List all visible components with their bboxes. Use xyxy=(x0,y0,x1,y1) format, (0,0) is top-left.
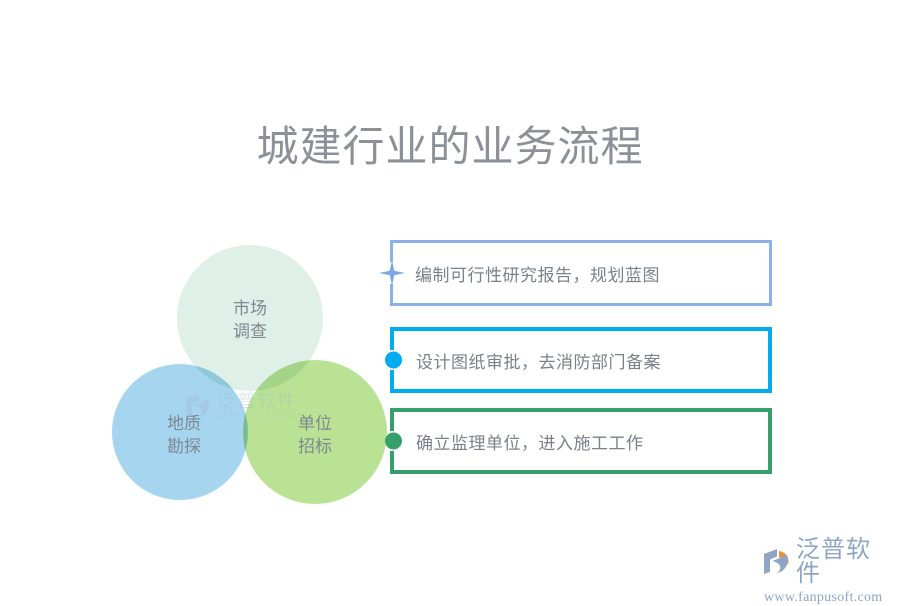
cross-marker-icon xyxy=(379,260,405,286)
dot-marker-icon-2 xyxy=(385,352,402,369)
logo-name: 泛普软件 xyxy=(796,538,892,586)
dot-marker-icon-3 xyxy=(385,433,402,450)
step-box-1[interactable]: 编制可行性研究报告，规划蓝图 xyxy=(390,240,772,306)
step-3-text: 确立监理单位，进入施工工作 xyxy=(394,429,644,454)
step-box-2[interactable]: 设计图纸审批，去消防部门备案 xyxy=(390,327,772,393)
page-title: 城建行业的业务流程 xyxy=(0,122,900,172)
logo-row: 泛普软件 xyxy=(762,538,892,586)
venn-label-unit-bidding: 单位 招标 xyxy=(280,412,350,458)
logo-url: www.fanpusoft.com xyxy=(764,590,883,606)
slide-canvas: 城建行业的业务流程 市场 调查 地质 勘探 单位 招标 泛普软件 FANPU S… xyxy=(0,0,900,600)
fanpu-logo-mark-icon xyxy=(762,547,792,577)
venn-label-market-research: 市场 调查 xyxy=(215,297,285,343)
venn-label-geological-survey: 地质 勘探 xyxy=(149,412,219,458)
step-box-3[interactable]: 确立监理单位，进入施工工作 xyxy=(390,408,772,474)
step-1-text: 编制可行性研究报告，规划蓝图 xyxy=(393,261,660,286)
venn-diagram: 市场 调查 地质 勘探 单位 招标 泛普软件 FANPU SOFTWARE xyxy=(105,240,405,510)
step-2-text: 设计图纸审批，去消防部门备案 xyxy=(394,348,661,373)
fanpu-logo: 泛普软件 www.fanpusoft.com xyxy=(762,538,892,590)
